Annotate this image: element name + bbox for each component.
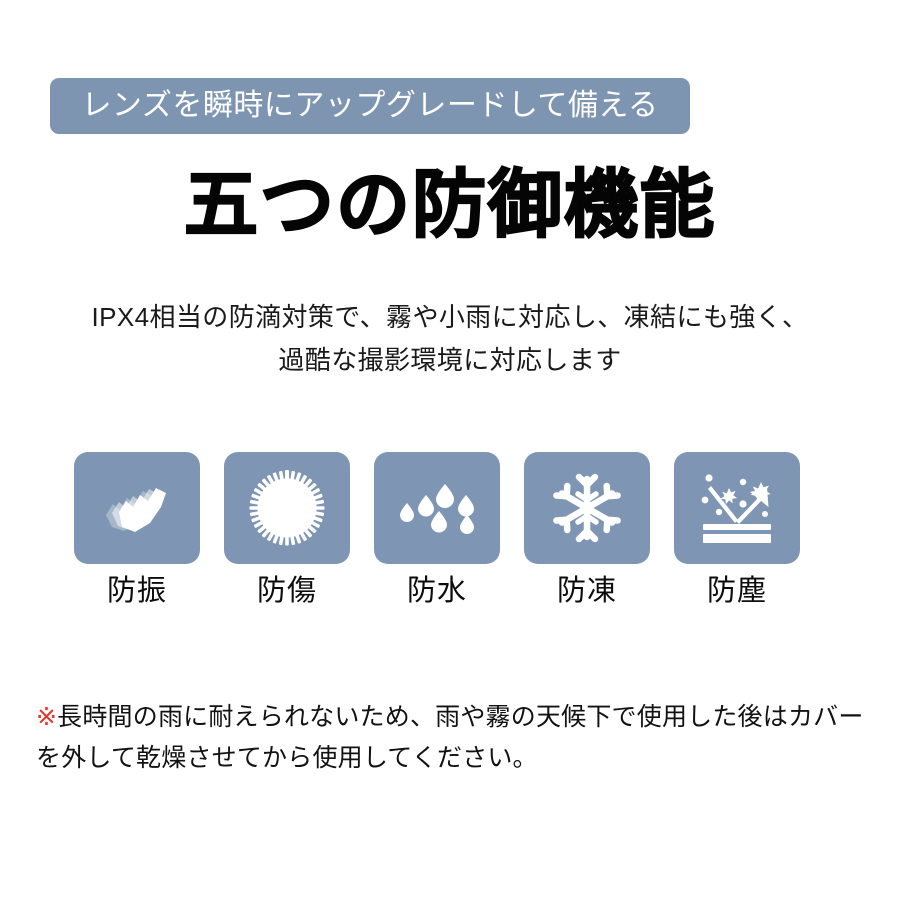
snowflake-icon [547,468,627,548]
infographic-page: レンズを瞬時にアップグレードして備える 五つの防御機能 IPX4相当の防滴対策で… [0,0,900,900]
warning-note: ※長時間の雨に耐えられないため、雨や霧の天候下で使用した後はカバーを外して乾燥さ… [36,697,876,778]
description-block: IPX4相当の防滴対策で、霧や小雨に対応し、凍結にも強く、 過酷な撮影環境に対応… [0,296,900,382]
tagline-banner: レンズを瞬時にアップグレードして備える [50,78,690,134]
gear-circle-icon [249,470,325,546]
tagline-banner-text: レンズを瞬時にアップグレードして備える [81,91,658,121]
feature-item-freeze: 防凍 [524,452,650,608]
feature-item-scratch: 防傷 [224,452,350,608]
feature-tile-water [374,452,500,564]
page-title-text: 五つの防御機能 [184,166,716,244]
feature-item-water: 防水 [374,452,500,608]
feature-tile-scratch [224,452,350,564]
feature-item-shake: 防振 [74,452,200,608]
feature-tile-shake [74,452,200,564]
dust-repel-icon [695,468,779,548]
feature-tile-row: 防振 [74,452,800,608]
page-title: 五つの防御機能 [0,166,900,244]
feature-label-dust: 防塵 [707,575,767,608]
feature-tile-freeze [524,452,650,564]
warning-note-paragraph: ※長時間の雨に耐えられないため、雨や霧の天候下で使用した後はカバーを外して乾燥さ… [36,697,876,778]
feature-label-shake: 防振 [107,575,167,608]
warning-note-text: 長時間の雨に耐えられないため、雨や霧の天候下で使用した後はカバーを外して乾燥させ… [36,703,864,772]
description-line-1: IPX4相当の防滴対策で、霧や小雨に対応し、凍結にも強く、 [0,296,900,339]
feature-label-scratch: 防傷 [257,575,317,608]
shake-motion-icon [98,471,176,545]
feature-tile-dust [674,452,800,564]
warning-note-mark: ※ [36,703,57,731]
feature-label-freeze: 防凍 [557,575,617,608]
description-line-2: 過酷な撮影環境に対応します [0,339,900,382]
feature-label-water: 防水 [407,575,467,608]
feature-item-dust: 防塵 [674,452,800,608]
raindrops-icon [395,475,479,541]
